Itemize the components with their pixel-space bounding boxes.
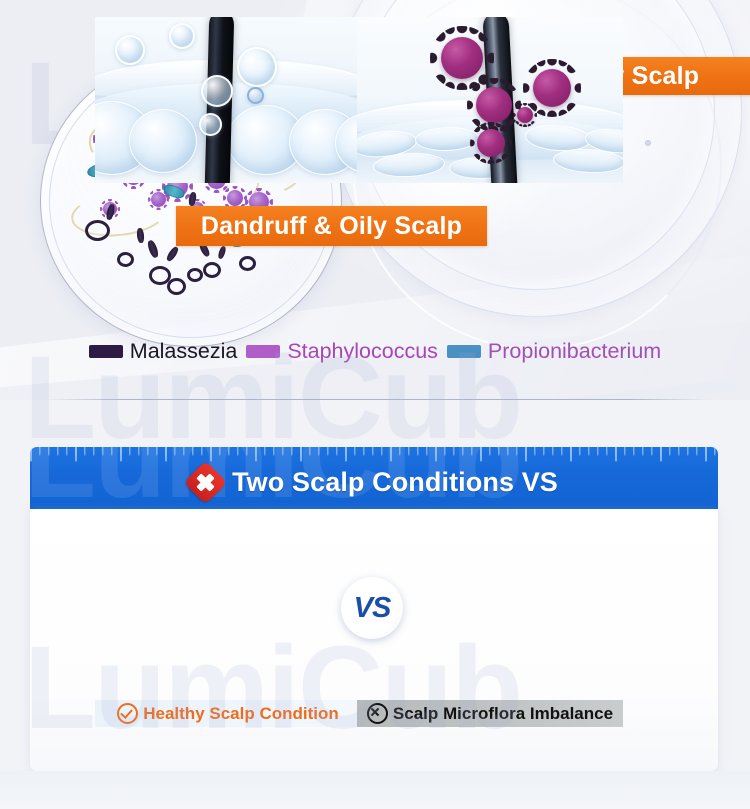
malassezia-cell xyxy=(227,190,243,206)
microbe-cell xyxy=(517,107,533,123)
check-circle-icon xyxy=(117,703,138,724)
infographic-page: LumiCub xyxy=(0,0,750,809)
section-banner: LumiCub Two Scalp Conditions VS xyxy=(30,447,718,509)
legend-item-malassezia: Malassezia xyxy=(89,339,238,364)
legend-swatch xyxy=(89,345,123,358)
bacteria-rod xyxy=(217,245,227,259)
bacteria-ring xyxy=(149,266,171,285)
legend-swatch xyxy=(246,345,280,358)
microbe-cell xyxy=(476,87,512,123)
bacteria-ring xyxy=(167,278,186,295)
bacteria-rod xyxy=(136,228,145,244)
legend-swatch xyxy=(447,345,481,358)
banner-title: Two Scalp Conditions VS xyxy=(232,467,558,498)
bacteria-ring xyxy=(117,252,134,267)
moisture-bubble xyxy=(199,113,222,136)
legend-label: Malassezia xyxy=(130,339,238,364)
bubble xyxy=(645,140,651,146)
scalp-imbalance-caption: Scalp Microflora Imbalance xyxy=(357,700,623,727)
microbe-cell xyxy=(441,37,483,79)
malassezia-cell xyxy=(151,192,166,207)
healthy-scalp-illustration xyxy=(95,17,361,183)
bacteria-ring xyxy=(85,220,110,241)
page-bottom xyxy=(0,771,750,809)
bacteria-rod xyxy=(165,245,180,262)
moisture-bubble xyxy=(115,35,145,65)
bacteria-rod xyxy=(146,239,160,259)
skin-cell xyxy=(129,109,197,173)
legend-item-staphylococcus: Staphylococcus xyxy=(246,339,438,364)
filament xyxy=(69,187,169,241)
vs-badge: VS xyxy=(341,577,403,639)
bacteria-rod xyxy=(162,183,186,201)
microbe-cell xyxy=(533,69,571,107)
microbe-cell xyxy=(477,129,505,157)
legend-label: Propionibacterium xyxy=(488,339,661,364)
comparison-card xyxy=(30,509,718,771)
moisture-bubble xyxy=(247,87,264,104)
moisture-bubble xyxy=(201,75,233,107)
moisture-bubble xyxy=(237,47,277,87)
banner-background: LumiCub Two Scalp Conditions VS xyxy=(30,447,718,509)
microbe-legend: Malassezia Staphylococcus Propionibacter… xyxy=(0,336,750,366)
bacteria-ring xyxy=(203,262,221,278)
malassezia-cell xyxy=(103,202,117,216)
vs-label: VS xyxy=(354,592,391,625)
moisture-bubble xyxy=(169,23,195,49)
healthy-scalp-caption: Healthy Scalp Condition xyxy=(95,700,361,727)
legend-label: Staphylococcus xyxy=(287,339,438,364)
bacteria-rod xyxy=(188,191,197,206)
caption-text: Scalp Microflora Imbalance xyxy=(393,704,613,724)
caption-text: Healthy Scalp Condition xyxy=(143,704,339,724)
bacteria-ring xyxy=(187,268,203,282)
legend-item-propionibacterium: Propionibacterium xyxy=(447,339,661,364)
x-circle-icon xyxy=(367,703,388,724)
medical-cross-icon xyxy=(184,460,228,504)
scalp-imbalance-illustration xyxy=(357,17,623,183)
dandruff-oily-scalp-tag: Dandruff & Oily Scalp xyxy=(176,206,487,246)
section-divider xyxy=(44,399,710,400)
bacteria-rod xyxy=(105,203,116,220)
bacteria-ring xyxy=(239,256,256,271)
